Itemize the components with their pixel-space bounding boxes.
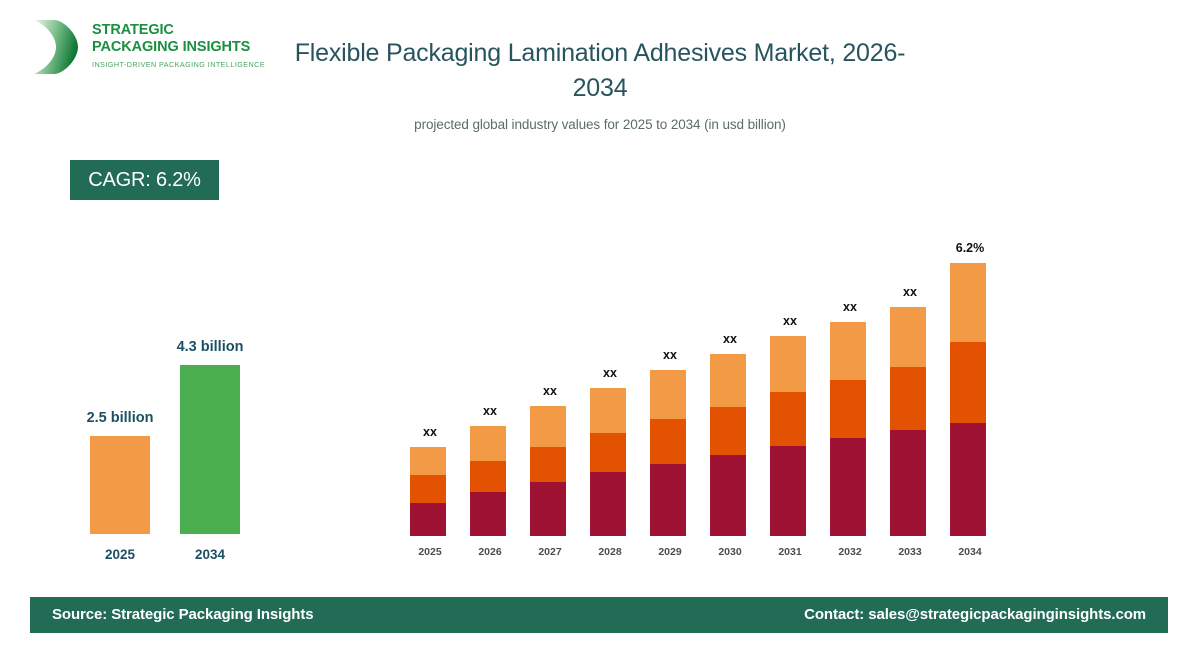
logo-line-2: PACKAGING INSIGHTS xyxy=(92,39,287,56)
cagr-badge: CAGR: 6.2% xyxy=(70,160,219,200)
stacked-bar-2033 xyxy=(890,307,926,536)
bar-value-label-2026: xx xyxy=(460,404,520,418)
bar-segment-segment-top-2033 xyxy=(890,307,926,367)
bar-segment-segment-base-2032 xyxy=(830,438,866,536)
stacked-bar-group-2027: xx2027 xyxy=(520,200,580,560)
bar-value-label-2025: xx xyxy=(400,425,460,439)
stacked-bar-group-2028: xx2028 xyxy=(580,200,640,560)
bar-segment-segment-base-2028 xyxy=(590,472,626,536)
bar-segment-segment-base-2026 xyxy=(470,492,506,536)
footer-bar: Source: Strategic Packaging Insights Con… xyxy=(30,597,1168,633)
bar-value-label-2028: xx xyxy=(580,366,640,380)
stacked-bar-group-2031: xx2031 xyxy=(760,200,820,560)
bar-segment-segment-mid-2027 xyxy=(530,447,566,482)
bar-segment-segment-base-2034 xyxy=(950,423,986,536)
bar-segment-segment-base-2025 xyxy=(410,503,446,536)
bar-value-label-2033: xx xyxy=(880,285,940,299)
x-axis-label-2027: 2027 xyxy=(520,546,580,558)
stacked-bar-group-2034: 6.2%2034 xyxy=(940,200,1000,560)
page-subtitle: projected global industry values for 202… xyxy=(290,116,910,134)
stacked-bar-group-2033: xx2033 xyxy=(880,200,940,560)
bar-segment-segment-top-2026 xyxy=(470,426,506,461)
bar-value-label-2030: xx xyxy=(700,332,760,346)
x-axis-label-2025: 2025 xyxy=(75,547,165,562)
bar-segment-segment-mid-2030 xyxy=(710,407,746,455)
bar-segment-segment-base-2027 xyxy=(530,482,566,536)
x-axis-label-2029: 2029 xyxy=(640,546,700,558)
stacked-bar-2034 xyxy=(950,263,986,536)
stacked-bar-2030 xyxy=(710,354,746,536)
x-axis-label-2026: 2026 xyxy=(460,546,520,558)
bar-value-label-2034: 6.2% xyxy=(940,241,1000,255)
bar-segment-segment-top-2031 xyxy=(770,336,806,392)
stacked-bar-2029 xyxy=(650,370,686,536)
bar-segment-segment-top-2030 xyxy=(710,354,746,407)
bar-segment-segment-base-2029 xyxy=(650,464,686,536)
stacked-bar-2028 xyxy=(590,388,626,536)
brand-wordmark: STRATEGIC PACKAGING INSIGHTS INSIGHT-DRI… xyxy=(92,22,287,69)
bar-value-label-2032: xx xyxy=(820,300,880,314)
stacked-bar-group-2029: xx2029 xyxy=(640,200,700,560)
bar-value-label-2029: xx xyxy=(640,348,700,362)
x-axis-label-2034: 2034 xyxy=(940,546,1000,558)
stacked-bar-group-2025: xx2025 xyxy=(400,200,460,560)
bar-segment-segment-mid-2033 xyxy=(890,367,926,430)
bar-segment-segment-top-2029 xyxy=(650,370,686,419)
endpoint-comparison-chart: 2.5 billion20254.3 billion2034 xyxy=(40,300,290,570)
stacked-bar-2025 xyxy=(410,447,446,536)
chevron-right-icon xyxy=(30,18,82,76)
stacked-bar-2027 xyxy=(530,406,566,536)
bar-segment-segment-mid-2029 xyxy=(650,419,686,464)
x-axis-label-2032: 2032 xyxy=(820,546,880,558)
x-axis-label-2028: 2028 xyxy=(580,546,640,558)
bar-segment-segment-top-2025 xyxy=(410,447,446,475)
stacked-bar-2031 xyxy=(770,336,806,536)
footer-source-label: Source: Strategic Packaging Insights xyxy=(52,597,313,633)
brand-logo: STRATEGIC PACKAGING INSIGHTS INSIGHT-DRI… xyxy=(30,16,290,80)
x-axis-label-2031: 2031 xyxy=(760,546,820,558)
logo-tagline: INSIGHT-DRIVEN PACKAGING INTELLIGENCE xyxy=(92,60,287,69)
bar-segment-segment-mid-2034 xyxy=(950,342,986,423)
bar-segment-segment-mid-2025 xyxy=(410,475,446,503)
bar-segment-segment-mid-2032 xyxy=(830,380,866,438)
stacked-bar-group-2026: xx2026 xyxy=(460,200,520,560)
bar-value-label-2025: 2.5 billion xyxy=(60,410,180,426)
bar-2025 xyxy=(90,436,150,534)
bar-value-label-2031: xx xyxy=(760,314,820,328)
x-axis-label-2030: 2030 xyxy=(700,546,760,558)
x-axis-label-2025: 2025 xyxy=(400,546,460,558)
bar-segment-segment-mid-2028 xyxy=(590,433,626,472)
bar-value-label-2027: xx xyxy=(520,384,580,398)
stacked-bar-2032 xyxy=(830,322,866,536)
bar-segment-segment-top-2027 xyxy=(530,406,566,447)
bar-segment-segment-top-2034 xyxy=(950,263,986,342)
bar-segment-segment-base-2031 xyxy=(770,446,806,536)
stacked-bar-2026 xyxy=(470,426,506,536)
title-group: Flexible Packaging Lamination Adhesives … xyxy=(290,36,910,134)
x-axis-label-2034: 2034 xyxy=(165,547,255,562)
bar-segment-segment-mid-2031 xyxy=(770,392,806,446)
stacked-bar-group-2030: xx2030 xyxy=(700,200,760,560)
page-title: Flexible Packaging Lamination Adhesives … xyxy=(290,36,910,106)
bar-segment-segment-top-2028 xyxy=(590,388,626,433)
bar-segment-segment-mid-2026 xyxy=(470,461,506,492)
stacked-bar-group-2032: xx2032 xyxy=(820,200,880,560)
footer-contact-label: Contact: sales@strategicpackaginginsight… xyxy=(804,597,1146,633)
bar-segment-segment-base-2033 xyxy=(890,430,926,536)
x-axis-label-2033: 2033 xyxy=(880,546,940,558)
bar-segment-segment-base-2030 xyxy=(710,455,746,536)
stacked-forecast-chart: xx2025xx2026xx2027xx2028xx2029xx2030xx20… xyxy=(400,200,1040,560)
bar-value-label-2034: 4.3 billion xyxy=(150,339,270,355)
bar-segment-segment-top-2032 xyxy=(830,322,866,380)
logo-line-1: STRATEGIC xyxy=(92,22,287,39)
bar-2034 xyxy=(180,365,240,534)
